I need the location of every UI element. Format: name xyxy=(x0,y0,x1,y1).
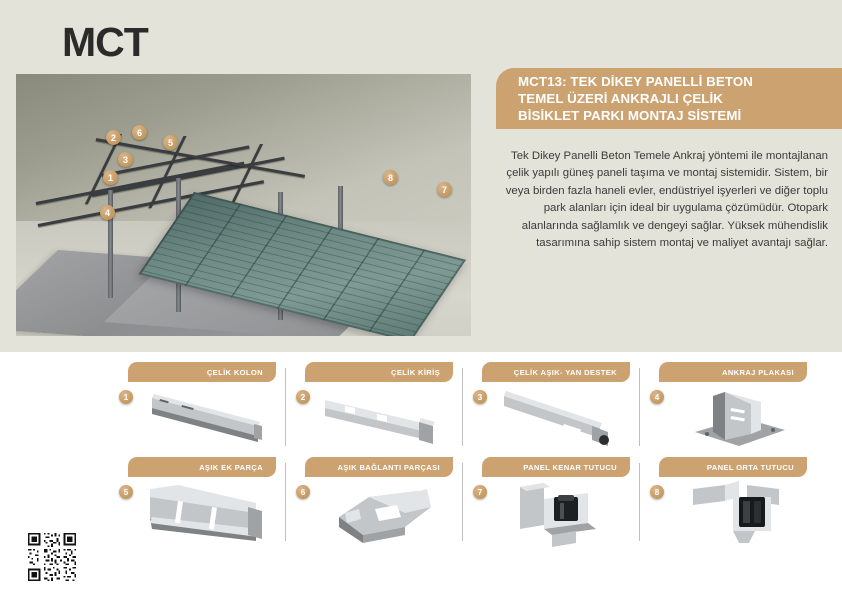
part-cell-6[interactable]: AŞIK BAĞLANTI PARÇASI6 xyxy=(295,457,453,552)
brand-logo: MCT METAL xyxy=(62,22,262,74)
purlin-splice-piece-icon xyxy=(138,479,274,549)
part-cell-5[interactable]: AŞIK EK PARÇA5 xyxy=(118,457,276,552)
part-label-2: ÇELİK KİRİŞ xyxy=(305,362,453,382)
part-cell-3[interactable]: ÇELİK AŞIK- YAN DESTEK3 xyxy=(472,362,630,457)
part-badge-2: 2 xyxy=(296,390,310,404)
datasheet-page: MCT METAL 12345678 MCT13: TEK DİKEY P xyxy=(0,0,842,595)
brand-logo-name: MCT xyxy=(62,22,148,62)
part-label-4: ANKRAJ PLAKASI xyxy=(659,362,807,382)
qr-code-image xyxy=(26,531,78,583)
panel-mid-clamp-icon xyxy=(669,479,805,549)
steel-purlin-side-support-icon xyxy=(492,384,628,454)
parts-legend: ÇELİK KOLON1 ÇELİK KİRİŞ2 ÇELİK AŞIK- YA… xyxy=(118,362,824,562)
part-label-5: AŞIK EK PARÇA xyxy=(128,457,276,477)
steel-beam-profile-icon xyxy=(315,384,451,454)
qr-code[interactable] xyxy=(26,531,78,583)
part-label-1: ÇELİK KOLON xyxy=(128,362,276,382)
hero-product-render: 12345678 xyxy=(16,74,471,336)
purlin-connection-bracket-icon xyxy=(315,479,451,549)
panel-end-clamp-icon xyxy=(492,479,628,549)
steel-column-profile-icon xyxy=(138,384,274,454)
part-badge-5: 5 xyxy=(119,485,133,499)
hero-callout-8: 8 xyxy=(383,170,398,185)
part-label-3: ÇELİK AŞIK- YAN DESTEK xyxy=(482,362,630,382)
product-description: Tek Dikey Panelli Beton Temele Ankraj yö… xyxy=(498,148,828,252)
anchor-plate-icon xyxy=(669,384,805,454)
hero-callout-4: 4 xyxy=(100,205,115,220)
part-badge-8: 8 xyxy=(650,485,664,499)
part-cell-4[interactable]: ANKRAJ PLAKASI4 xyxy=(649,362,807,457)
part-label-6: AŞIK BAĞLANTI PARÇASI xyxy=(305,457,453,477)
hero-callout-3: 3 xyxy=(118,152,133,167)
part-badge-1: 1 xyxy=(119,390,133,404)
hero-callout-6: 6 xyxy=(132,125,147,140)
hero-callout-7: 7 xyxy=(437,182,452,197)
part-cell-2[interactable]: ÇELİK KİRİŞ2 xyxy=(295,362,453,457)
part-badge-4: 4 xyxy=(650,390,664,404)
hero-callout-5: 5 xyxy=(163,135,178,150)
part-label-8: PANEL ORTA TUTUCU xyxy=(659,457,807,477)
part-label-7: PANEL KENAR TUTUCU xyxy=(482,457,630,477)
parts-row-bottom: AŞIK EK PARÇA5 AŞIK BAĞLANTI PARÇASI6 PA… xyxy=(118,457,824,552)
page-title: MCT13: TEK DİKEY PANELLİ BETON TEMEL ÜZE… xyxy=(496,73,842,124)
parts-row-top: ÇELİK KOLON1 ÇELİK KİRİŞ2 ÇELİK AŞIK- YA… xyxy=(118,362,824,457)
title-banner: MCT13: TEK DİKEY PANELLİ BETON TEMEL ÜZE… xyxy=(496,68,842,129)
hero-callout-1: 1 xyxy=(103,170,118,185)
part-cell-1[interactable]: ÇELİK KOLON1 xyxy=(118,362,276,457)
part-cell-8[interactable]: PANEL ORTA TUTUCU8 xyxy=(649,457,807,552)
part-badge-6: 6 xyxy=(296,485,310,499)
part-badge-3: 3 xyxy=(473,390,487,404)
part-cell-7[interactable]: PANEL KENAR TUTUCU7 xyxy=(472,457,630,552)
hero-callout-2: 2 xyxy=(106,130,121,145)
part-badge-7: 7 xyxy=(473,485,487,499)
